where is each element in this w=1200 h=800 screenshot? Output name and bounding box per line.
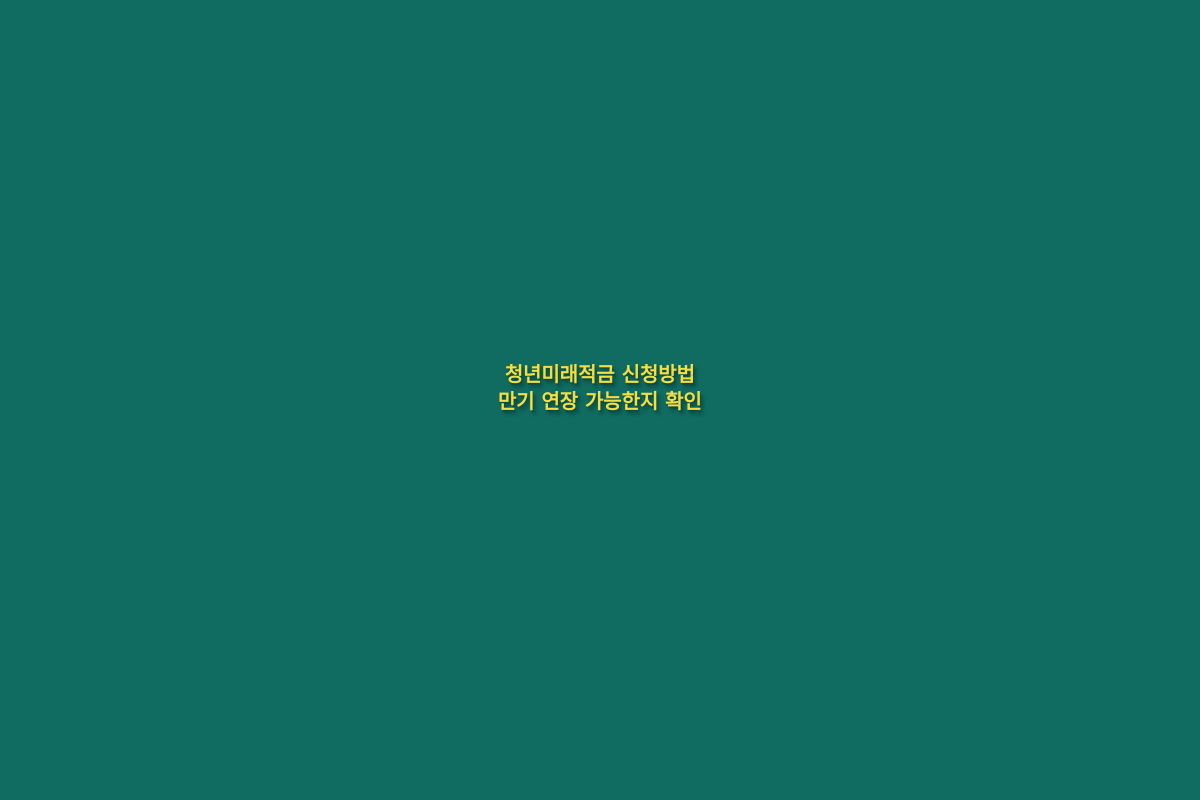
title-line-1: 청년미래적금 신청방법 [0,361,1200,388]
title-line-2: 만기 연장 가능한지 확인 [0,388,1200,415]
banner-canvas: 청년미래적금 신청방법 만기 연장 가능한지 확인 [0,0,1200,800]
title-block: 청년미래적금 신청방법 만기 연장 가능한지 확인 [0,361,1200,415]
